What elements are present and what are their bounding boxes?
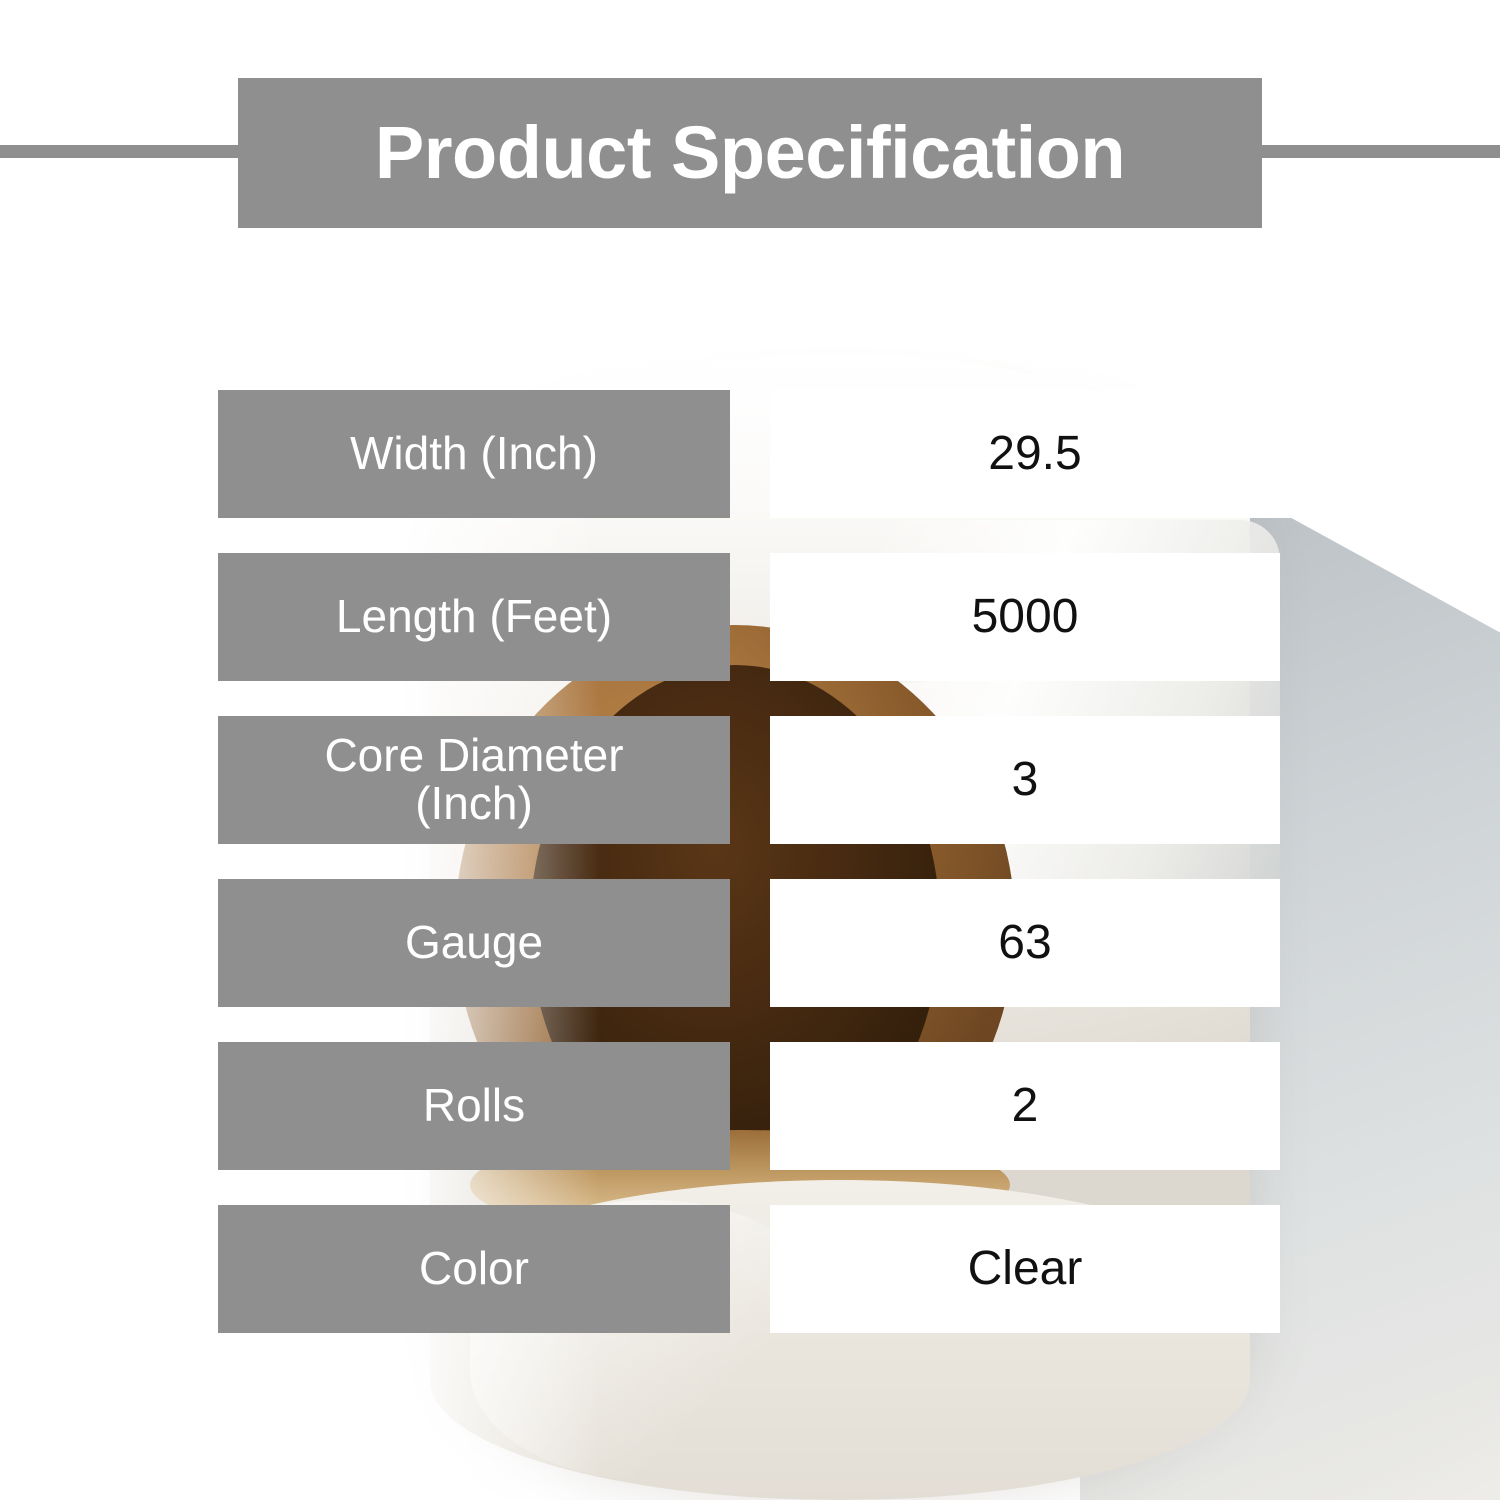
spec-value-gauge: 63: [770, 879, 1280, 1007]
spec-label-color: Color: [218, 1205, 730, 1333]
table-row: Color Clear: [0, 1205, 1500, 1333]
spec-value-width: 29.5: [770, 390, 1300, 518]
spec-label-gauge: Gauge: [218, 879, 730, 1007]
table-row: Rolls 2: [0, 1042, 1500, 1170]
table-row: Width (Inch) 29.5: [0, 390, 1500, 518]
table-row: Length (Feet) 5000: [0, 553, 1500, 681]
spec-label-core-diameter: Core Diameter (Inch): [218, 716, 730, 844]
table-row: Core Diameter (Inch) 3: [0, 716, 1500, 844]
spec-label-width: Width (Inch): [218, 390, 730, 518]
spec-value-rolls: 2: [770, 1042, 1280, 1170]
product-specification-card: Product Specification Width (Inch) 29.5 …: [0, 0, 1500, 1500]
table-row: Gauge 63: [0, 879, 1500, 1007]
specification-table: Width (Inch) 29.5 Length (Feet) 5000 Cor…: [0, 0, 1500, 1500]
spec-label-rolls: Rolls: [218, 1042, 730, 1170]
spec-label-length: Length (Feet): [218, 553, 730, 681]
spec-value-color: Clear: [770, 1205, 1280, 1333]
spec-value-core-diameter: 3: [770, 716, 1280, 844]
spec-value-length: 5000: [770, 553, 1280, 681]
